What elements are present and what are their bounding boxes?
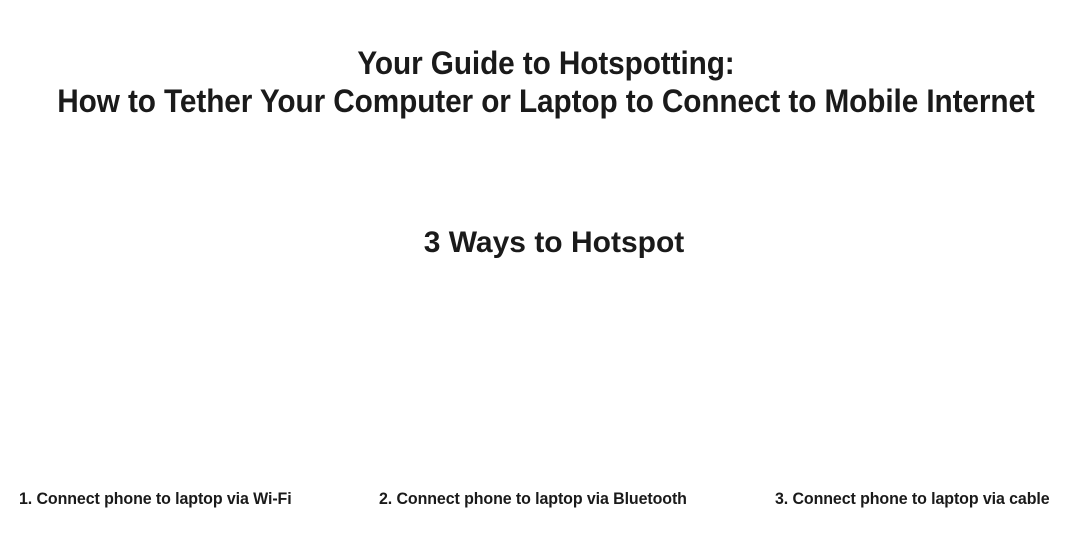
- caption-method-1-label: 1. Connect phone to laptop via Wi-Fi: [19, 488, 292, 510]
- captions-row: 1. Connect phone to laptop via Wi-Fi 2. …: [0, 488, 1080, 512]
- page-title: Your Guide to Hotspotting: How to Tether…: [0, 44, 1080, 120]
- section-heading: 3 Ways to Hotspot: [0, 223, 1080, 263]
- caption-method-2: 2. Connect phone to laptop via Bluetooth: [379, 488, 739, 510]
- caption-method-1: 1. Connect phone to laptop via Wi-Fi: [19, 488, 379, 510]
- caption-method-2-label: 2. Connect phone to laptop via Bluetooth: [379, 488, 687, 510]
- caption-method-3: 3. Connect phone to laptop via cable: [775, 488, 1080, 510]
- illustration-bluetooth: [360, 280, 720, 478]
- illustration-cable: [720, 280, 1080, 478]
- page-title-line-2: How to Tether Your Computer or Laptop to…: [38, 82, 1054, 120]
- page-title-line-1: Your Guide to Hotspotting:: [38, 44, 1054, 82]
- article-page: Your Guide to Hotspotting: How to Tether…: [0, 0, 1080, 552]
- illustration-wifi: [0, 280, 360, 478]
- illustrations-row: [0, 280, 1080, 478]
- caption-method-3-label: 3. Connect phone to laptop via cable: [775, 488, 1050, 510]
